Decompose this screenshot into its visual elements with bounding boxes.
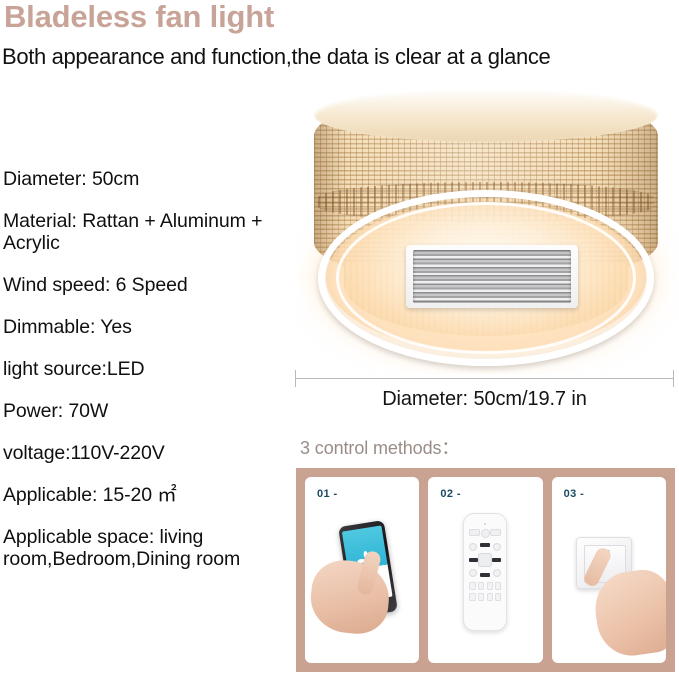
control-methods-heading: 3 control methods： bbox=[300, 434, 459, 460]
remote-button bbox=[493, 543, 501, 551]
page-subtitle: Both appearance and function,the data is… bbox=[2, 44, 550, 70]
remote-up-button bbox=[480, 543, 490, 547]
spec-item-material: Material: Rattan + Aluminum + Acrylic bbox=[3, 210, 289, 254]
spec-item-light-source: light source:LED bbox=[3, 358, 289, 380]
spec-item-applicable-area: Applicable: 15-20 ㎡ bbox=[3, 484, 289, 506]
remote-dpad bbox=[469, 543, 501, 577]
card-number-label: 01 - bbox=[317, 488, 338, 500]
remote-key bbox=[469, 593, 475, 601]
product-photo bbox=[292, 86, 679, 374]
remote-button bbox=[469, 529, 480, 536]
dimension-tick-left bbox=[295, 370, 296, 387]
remote-control-icon bbox=[463, 513, 507, 631]
spec-item-voltage: voltage:110V-220V bbox=[3, 442, 289, 464]
remote-key bbox=[487, 582, 493, 590]
control-methods-panel: 01 - bbox=[296, 468, 675, 672]
spec-item-dimmable: Dimmable: Yes bbox=[3, 316, 289, 338]
dimension-label: Diameter: 50cm/19.7 in bbox=[292, 388, 677, 411]
spec-item-diameter: Diameter: 50cm bbox=[3, 168, 289, 190]
dimension-line bbox=[295, 378, 674, 379]
wall-switch-illustration bbox=[552, 503, 666, 663]
control-method-card-wall-switch[interactable]: 03 - bbox=[552, 477, 666, 663]
remote-control-illustration bbox=[428, 503, 542, 663]
remote-keypad bbox=[469, 582, 501, 601]
card-number-label: 03 - bbox=[564, 488, 585, 500]
remote-button bbox=[469, 569, 477, 577]
remote-key bbox=[469, 582, 475, 590]
remote-key bbox=[487, 593, 493, 601]
remote-button bbox=[481, 529, 490, 538]
vent-grille-slats bbox=[413, 250, 571, 303]
remote-button bbox=[490, 529, 501, 536]
spec-item-applicable-space: Applicable space: living room,Bedroom,Di… bbox=[3, 526, 289, 570]
remote-key bbox=[478, 593, 484, 601]
remote-button bbox=[469, 543, 477, 551]
dimension-tick-right bbox=[673, 370, 674, 387]
control-methods-card-list: 01 - bbox=[296, 468, 675, 672]
product-infographic: Bladeless fan light Both appearance and … bbox=[0, 0, 679, 677]
remote-top-row bbox=[469, 529, 501, 538]
smartphone-app-illustration bbox=[305, 503, 419, 663]
card-number-label: 02 - bbox=[440, 488, 461, 500]
remote-left-button bbox=[469, 558, 478, 562]
remote-key bbox=[495, 593, 501, 601]
remote-ir-led bbox=[484, 523, 486, 525]
remote-key bbox=[478, 582, 484, 590]
spec-item-power: Power: 70W bbox=[3, 400, 289, 422]
specification-list: Diameter: 50cm Material: Rattan + Alumin… bbox=[3, 168, 289, 570]
dimension-bracket bbox=[295, 370, 674, 386]
remote-center-button bbox=[478, 553, 492, 567]
control-method-card-app[interactable]: 01 - bbox=[305, 477, 419, 663]
remote-down-button bbox=[480, 573, 490, 577]
control-method-card-remote[interactable]: 02 - bbox=[428, 477, 542, 663]
remote-right-button bbox=[492, 558, 501, 562]
page-title: Bladeless fan light bbox=[4, 0, 274, 35]
air-outlet-vent bbox=[406, 245, 578, 308]
drum-top-cap bbox=[314, 88, 658, 142]
remote-button bbox=[493, 569, 501, 577]
remote-key bbox=[495, 582, 501, 590]
spec-item-wind-speed: Wind speed: 6 Speed bbox=[3, 274, 289, 296]
